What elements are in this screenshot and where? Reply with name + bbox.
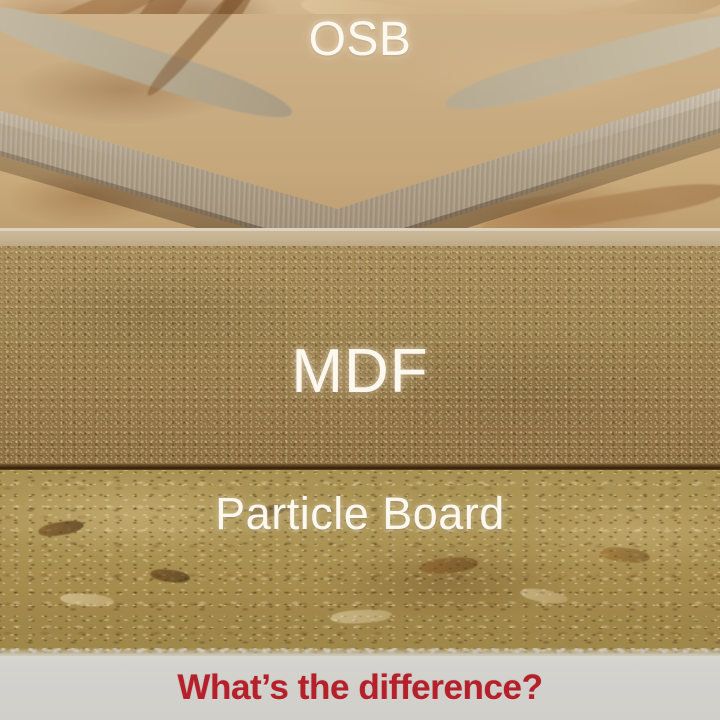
- caption-text: What’s the difference?: [177, 668, 542, 708]
- wood-comparison-image: OSB MDF Particle Board What’s the differ…: [0, 0, 720, 720]
- particle-board-panel-region: [0, 470, 720, 658]
- mdf-panel-region: [0, 228, 720, 470]
- particle-board-chip-texture-overlay: [0, 470, 720, 658]
- osb-panel-region: [0, 0, 720, 230]
- mdf-fine-grain-texture-overlay: [0, 246, 720, 470]
- caption-bar: What’s the difference?: [0, 656, 720, 720]
- mdf-core-face: [0, 246, 720, 470]
